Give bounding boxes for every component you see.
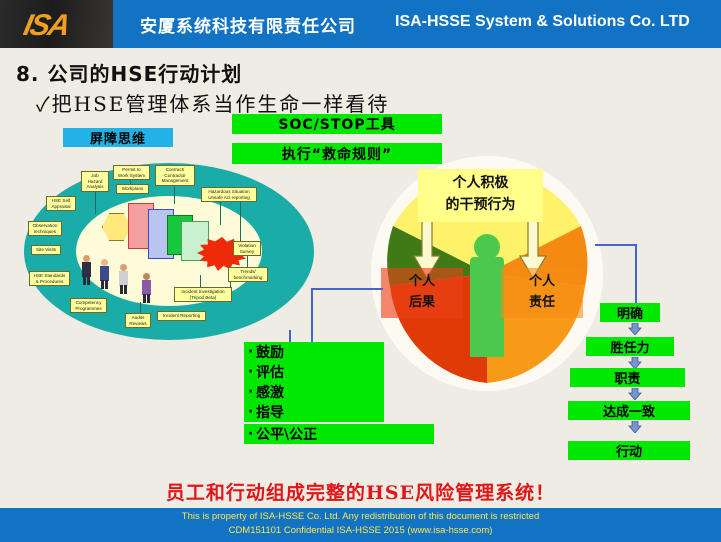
wheel-label-left-line1: 个人 [409,272,435,293]
figure-body [470,257,504,357]
page-title: 8. 公司的HSE行动计划 [16,58,242,87]
list-item: ·感激 [244,382,384,402]
bullet-dot: · [248,426,256,442]
wheel-label-top-line1: 个人积极 [418,173,543,195]
person-figure-icon [470,234,504,357]
oval-label: Site Visits [31,245,61,255]
oval-label: Observationtechniques [28,221,62,236]
chain-arrow-icon [628,388,642,400]
oval-label: ViolationSurvey [233,241,261,256]
bullet-dot: · [248,364,256,380]
oval-label: AuditsReviews [125,313,151,328]
chain-arrow-icon [628,323,642,335]
header-bar: ISA 安厦系统科技有限责任公司 ISA-HSSE System & Solut… [0,0,721,48]
wheel-label-top: 个人积极 的干预行为 [418,169,543,222]
wheel-label-left-line2: 后果 [409,293,435,314]
connector-right-horizontal [595,244,637,246]
isa-logo: ISA [20,9,71,43]
connector-line [240,201,241,243]
connector-left-horizontal [311,288,383,290]
wheel-label-top-line2: 的干预行为 [418,195,543,217]
chain-arrow-icon [628,421,642,433]
oval-label: Hazardous SituationUnsafe Act reporting [201,187,257,202]
wheel-label-right-line1: 个人 [529,272,555,293]
callout-barrier-thinking: 屏障思维 [63,128,173,147]
connector-line [95,192,96,214]
page-subtitle: ✓把HSE管理体系当作生命一样看待 [36,88,389,117]
header-company-en: ISA-HSSE System & Solutions Co. LTD [395,13,690,31]
list-item-label: 评估 [256,362,284,382]
list-item: ·公平\公正 [244,424,434,444]
footer-bar: This is property of ISA-HSSE Co. Ltd. An… [0,508,721,542]
chain-step: 达成一致 [568,401,690,420]
bullet-dot: · [248,404,256,420]
responsibility-wheel: 个人积极 的干预行为 个人 后果 个人 责任 [371,156,603,391]
oval-label: Incident Reporting [157,311,206,321]
oval-label: JobHazardAnalysis [81,171,109,192]
chain-step: 行动 [568,441,690,460]
list-item-label: 鼓励 [256,342,284,362]
chain-step: 职责 [570,368,685,387]
footer-line-2: CDM151101 Confidential ISA-HSSE 2015 (ww… [0,525,721,536]
list-item: ·评估 [244,362,384,382]
list-item: ·指导 [244,402,384,422]
connector-line [174,186,175,204]
list-item-label: 指导 [256,402,284,422]
wheel-label-consequence: 个人 后果 [381,268,463,318]
connector-left-vertical [311,288,313,344]
header-company-cn: 安厦系统科技有限责任公司 [140,12,356,37]
chain-step: 胜任力 [586,337,674,356]
bullet-dot: · [248,384,256,400]
slide-canvas: ISA 安厦系统科技有限责任公司 ISA-HSSE System & Solut… [0,0,721,542]
footer-line-1: This is property of ISA-HSSE Co. Ltd. An… [0,511,721,522]
oval-label: HSE Standards& Procedures [29,271,70,286]
chain-step: 明确 [600,303,660,322]
oval-label: CompetencyProgrammes [70,298,107,313]
list-item: ·鼓励 [244,342,384,362]
oval-label: HSE SelfAppraisal [46,196,76,211]
oval-label: Incident Investigation(Tripod Beta) [174,287,232,302]
bullet-dot: · [248,344,256,360]
list-item-label: 感激 [256,382,284,402]
oval-label: Workplans [116,184,149,194]
connector-right-vertical [635,244,637,304]
barrier-model-diagram: JobHazardAnalysisPermit toWork SystemCon… [24,163,314,340]
wheel-label-responsibility: 个人 责任 [501,268,583,318]
oval-label: Permit toWork System [113,165,150,180]
list-item-label: 公平\公正 [256,424,317,444]
bottom-statement: 员工和行动组成完整的HSE风险管理系统！ [0,478,721,505]
oval-label: Contract/ContractorManagement [155,165,195,186]
connector-line [220,201,221,225]
oval-label: Trends/benchmarking [228,267,268,282]
callout-soc-stop: SOC/STOP工具 [232,114,442,134]
wheel-label-right-line2: 责任 [529,293,555,314]
